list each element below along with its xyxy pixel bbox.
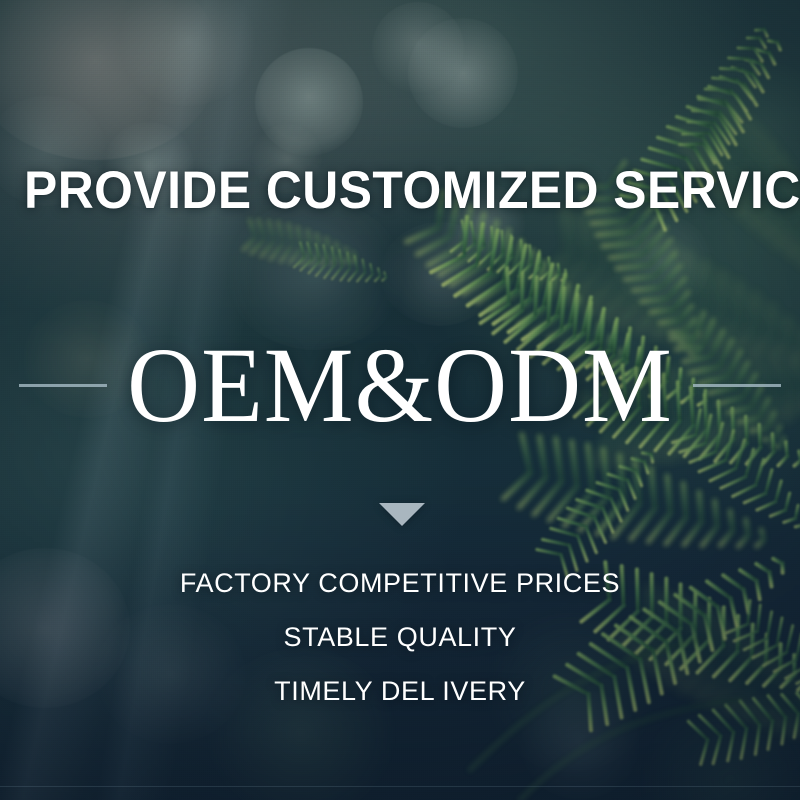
feature-list-item: FACTORY COMPETITIVE PRICES bbox=[0, 556, 800, 610]
feature-list-item: STABLE QUALITY bbox=[0, 610, 800, 664]
brandmark-lockup: OEM&ODM bbox=[0, 328, 800, 442]
promo-banner: PROVIDE CUSTOMIZED SERVICE OEM&ODM FACTO… bbox=[0, 0, 800, 800]
feature-list-item: TIMELY DEL IVERY bbox=[0, 664, 800, 718]
banner-content: PROVIDE CUSTOMIZED SERVICE OEM&ODM FACTO… bbox=[0, 0, 800, 800]
brandmark-text: OEM&ODM bbox=[127, 331, 673, 438]
feature-list: FACTORY COMPETITIVE PRICES STABLE QUALIT… bbox=[0, 556, 800, 718]
headline-text: PROVIDE CUSTOMIZED SERVICE bbox=[24, 164, 776, 217]
decorative-rule-right bbox=[693, 384, 781, 387]
decorative-rule-left bbox=[19, 384, 107, 387]
triangle-down-icon bbox=[379, 503, 425, 526]
